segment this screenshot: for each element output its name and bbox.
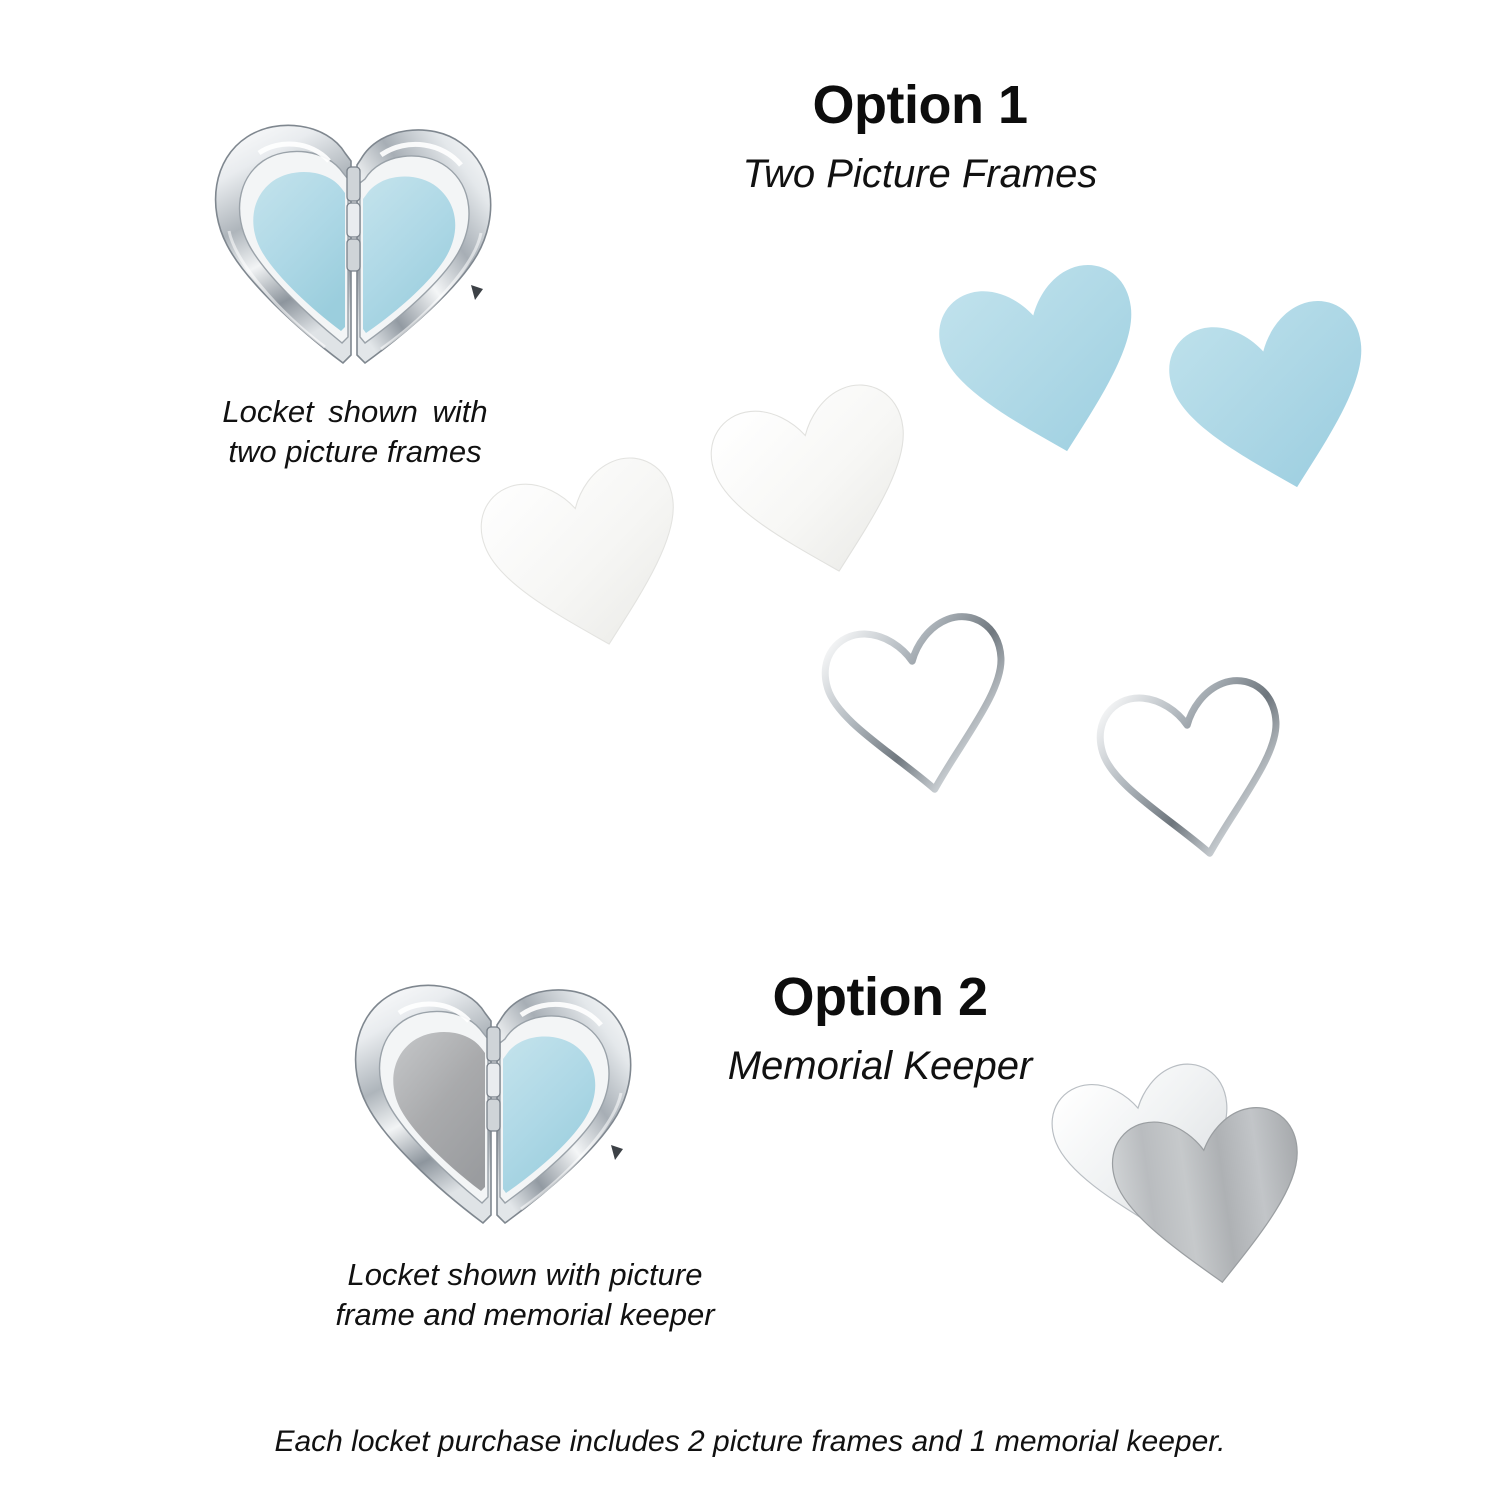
locket-left-half [216,125,351,363]
locket-1-caption-line-1: Locket shown with [145,392,565,432]
locket-1-caption: Locket shown with two picture frames [145,392,565,471]
locket-right-half [497,990,631,1223]
locket-hinge [347,167,360,271]
locket-2-caption: Locket shown with picture frame and memo… [285,1255,765,1334]
picture-frame-insert-blue [916,239,1174,490]
purchase-includes-note: Each locket purchase includes 2 picture … [0,1425,1500,1459]
memorial-keeper-front-heart [1095,1085,1326,1312]
locket-2-caption-line-1: Locket shown with picture [285,1255,765,1295]
option-1-heading-block: Option 1 Two Picture Frames [640,78,1200,194]
locket-clasp [471,285,483,300]
picture-frame-wire-ring [805,592,1036,819]
picture-frame-insert-white [688,359,946,610]
locket-1-caption-line-2: two picture frames [145,432,565,472]
option-2-heading-block: Option 2 Memorial Keeper [600,970,1160,1086]
locket-clasp [611,1145,623,1160]
heart-locket-open-frame-and-keeper [325,975,665,1245]
option-1-title: Option 1 [640,78,1200,132]
locket-2-caption-line-2: frame and memorial keeper [285,1295,765,1335]
heart-locket-open-two-picture-frames [185,115,525,385]
picture-frame-insert-blue [1146,275,1404,526]
product-options-image: Option 1 Two Picture Frames [0,0,1500,1500]
option-2-title: Option 2 [600,970,1160,1024]
locket-right-half [357,130,491,363]
locket-left-half [356,985,491,1223]
picture-frame-wire-ring [1080,656,1311,883]
locket-hinge [487,1027,500,1131]
option-1-subtitle: Two Picture Frames [640,154,1200,194]
